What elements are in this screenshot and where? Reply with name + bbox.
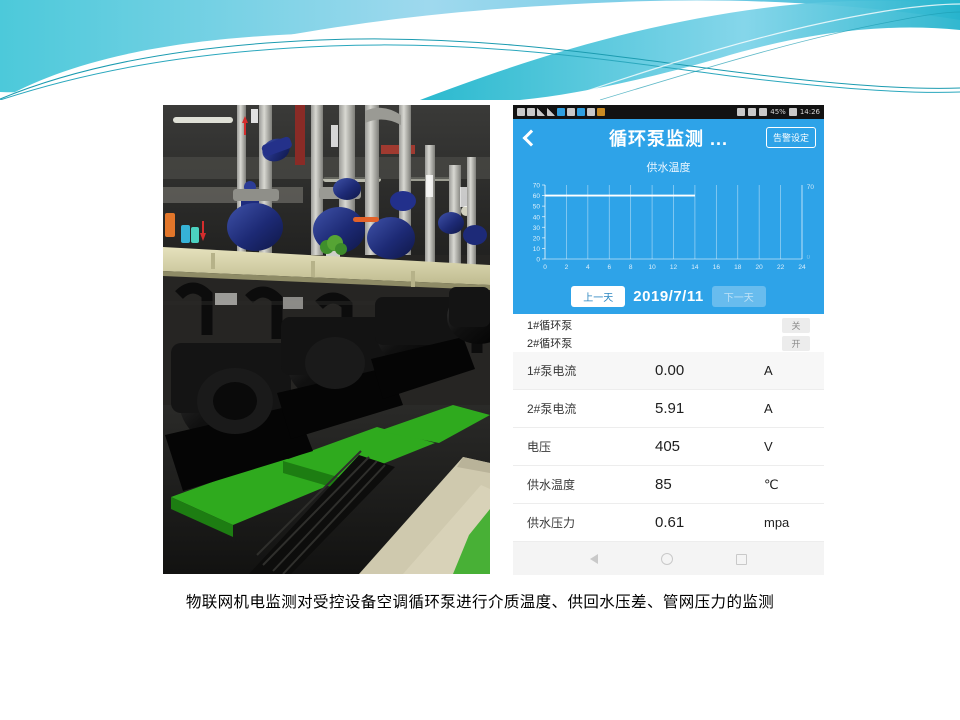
measurement-row: 2#泵电流5.91A	[513, 390, 824, 428]
clock-label: 14:26	[800, 109, 820, 116]
chart-panel: 供水温度 01020304050607002468101214161820222…	[513, 156, 824, 282]
chart-y-tick-label: 50	[533, 204, 541, 211]
measurement-unit: V	[764, 439, 810, 454]
status-bar-left-icons	[517, 108, 737, 116]
sd-card-icon	[577, 108, 585, 116]
chart-y-tick-label: 20	[533, 235, 541, 242]
chart-y-tick-label: 10	[533, 246, 541, 253]
prev-day-button[interactable]: 上一天	[571, 286, 625, 307]
chart-title: 供水温度	[513, 158, 824, 177]
chart-y-tick-label: 70	[533, 183, 541, 190]
phone-screenshot: 45% 14:26 循环泵监测 ... 告警设定 供水温度 0102030405…	[513, 105, 824, 575]
chart-y-tick-label: 0	[536, 257, 540, 264]
signal-icon	[547, 108, 555, 116]
chart-x-tick-label: 2	[565, 264, 569, 271]
measurement-value: 0.61	[647, 514, 764, 531]
measurement-row: 电压405V	[513, 428, 824, 466]
measurement-list: 1#泵电流0.00A2#泵电流5.91A电压405V供水温度85℃供水压力0.6…	[513, 352, 824, 542]
app-header-bar: 循环泵监测 ... 告警设定	[513, 119, 824, 156]
measurement-label: 供水温度	[527, 476, 647, 493]
battery-icon	[789, 108, 797, 116]
measurement-row: 供水压力0.61mpa	[513, 504, 824, 542]
chart-x-tick-label: 10	[648, 264, 656, 271]
triangle-back-icon[interactable]	[590, 554, 598, 564]
shield-icon	[759, 108, 767, 116]
status-bar-right-icons: 45% 14:26	[737, 108, 820, 116]
eye-icon	[737, 108, 745, 116]
battery-percent-label: 45%	[770, 109, 786, 116]
chart-y-tick-label: 30	[533, 225, 541, 232]
measurement-row: 供水温度85℃	[513, 466, 824, 504]
chevron-left-icon[interactable]	[521, 130, 537, 146]
chart-x-tick-label: 22	[777, 264, 785, 271]
alarm-settings-button[interactable]: 告警设定	[766, 127, 816, 148]
day-navigation: 上一天 2019/7/11 下一天	[513, 282, 824, 314]
next-day-button[interactable]: 下一天	[712, 286, 766, 307]
chart-x-tick-label: 8	[629, 264, 633, 271]
pump-status-label: 1#循环泵	[527, 317, 572, 333]
chart-x-tick-label: 14	[691, 264, 699, 271]
slide-banner	[0, 0, 960, 100]
measurement-row: 1#泵电流0.00A	[513, 352, 824, 390]
measurement-unit: A	[764, 401, 810, 416]
chart-x-tick-label: 4	[586, 264, 590, 271]
bluetooth-icon	[567, 108, 575, 116]
measurement-label: 电压	[527, 438, 647, 455]
measurement-label: 供水压力	[527, 514, 647, 531]
pump-status-label: 2#循环泵	[527, 335, 572, 351]
chart-x-tick-label: 6	[607, 264, 611, 271]
measurement-unit: mpa	[764, 515, 810, 530]
hd-icon	[748, 108, 756, 116]
square-recents-icon[interactable]	[736, 554, 747, 565]
chart-x-tick-label: 12	[670, 264, 678, 271]
current-date-label: 2019/7/11	[633, 288, 703, 305]
status-badge: 开	[782, 336, 810, 351]
measurement-value: 405	[647, 438, 764, 455]
pump-status-list: 1#循环泵关2#循环泵开	[513, 314, 824, 352]
app-icon	[597, 108, 605, 116]
pump-status-row: 2#循环泵开	[513, 334, 824, 352]
android-nav-bar	[513, 542, 824, 575]
app-icon	[527, 108, 535, 116]
app-icon	[517, 108, 525, 116]
chart-x-tick-label: 24	[798, 264, 806, 271]
chart-x-tick-label: 20	[756, 264, 764, 271]
measurement-value: 85	[647, 476, 764, 493]
circle-home-icon[interactable]	[661, 553, 673, 565]
measurement-value: 0.00	[647, 362, 764, 379]
measurement-unit: A	[764, 363, 810, 378]
chart-y-tick-label: 40	[533, 214, 541, 221]
pump-status-row: 1#循环泵关	[513, 316, 824, 334]
chart-right-top-label: 70	[807, 184, 815, 191]
measurement-label: 1#泵电流	[527, 362, 647, 379]
pump-room-photo	[163, 105, 490, 574]
chart-x-tick-label: 18	[734, 264, 742, 271]
chart-x-tick-label: 16	[713, 264, 721, 271]
app-icon	[587, 108, 595, 116]
measurement-label: 2#泵电流	[527, 400, 647, 417]
wifi-icon	[557, 108, 565, 116]
slide-caption: 物联网机电监测对受控设备空调循环泵进行介质温度、供回水压差、管网压力的监测	[0, 590, 960, 612]
android-status-bar: 45% 14:26	[513, 105, 824, 119]
measurement-unit: ℃	[764, 477, 810, 493]
signal-icon	[537, 108, 545, 116]
chart-y-tick-label: 60	[533, 193, 541, 200]
status-badge: 关	[782, 318, 810, 333]
temperature-line-chart[interactable]: 010203040506070024681012141618202224700	[519, 177, 818, 282]
chart-x-tick-label: 0	[543, 264, 547, 271]
chart-right-bottom-label: 0	[807, 255, 811, 261]
measurement-value: 5.91	[647, 400, 764, 417]
